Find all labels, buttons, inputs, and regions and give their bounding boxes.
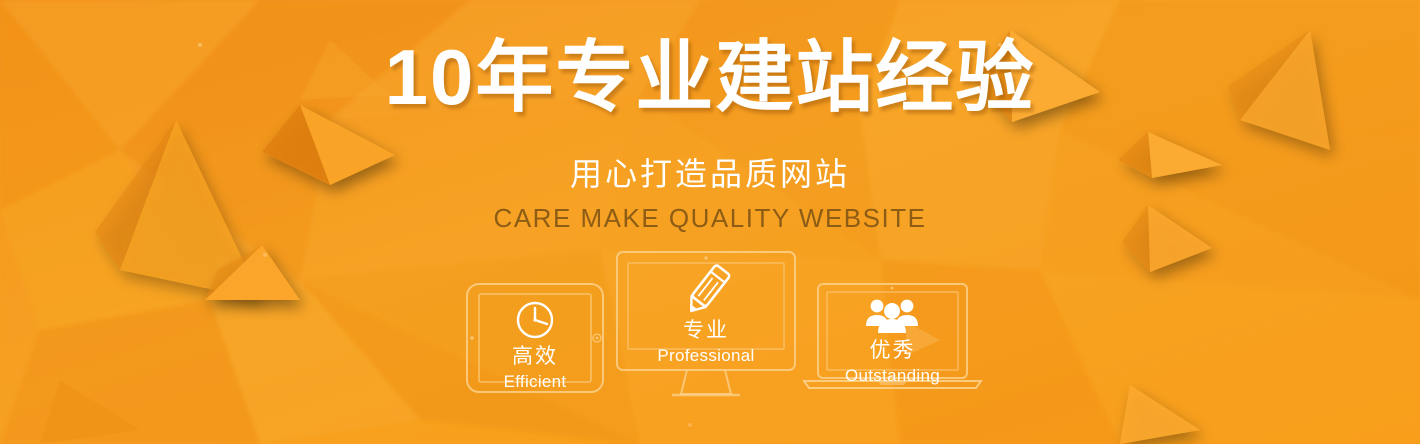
tablet-illustration: [465, 282, 605, 394]
promo-banner: 10年专业建站经验 用心打造品质网站 CARE MAKE QUALITY WEB…: [0, 0, 1420, 444]
people-group-icon: [866, 300, 918, 333]
pencil-icon: [684, 264, 730, 316]
feature-card-outstanding: 优秀 Outstanding: [800, 282, 985, 402]
laptop-illustration: [800, 282, 985, 397]
monitor-illustration: [615, 250, 797, 400]
subtitle-chinese: 用心打造品质网站: [0, 155, 1420, 193]
subtitle-english: CARE MAKE QUALITY WEBSITE: [0, 203, 1420, 234]
page-title: 10年专业建站经验: [0, 38, 1420, 116]
feature-device-group: 高效 Efficient: [455, 250, 995, 415]
clock-icon: [518, 303, 552, 337]
banner-content: 10年专业建站经验 用心打造品质网站 CARE MAKE QUALITY WEB…: [0, 0, 1420, 444]
feature-card-efficient: 高效 Efficient: [465, 282, 605, 399]
feature-card-professional: 专业 Professional: [615, 250, 797, 405]
